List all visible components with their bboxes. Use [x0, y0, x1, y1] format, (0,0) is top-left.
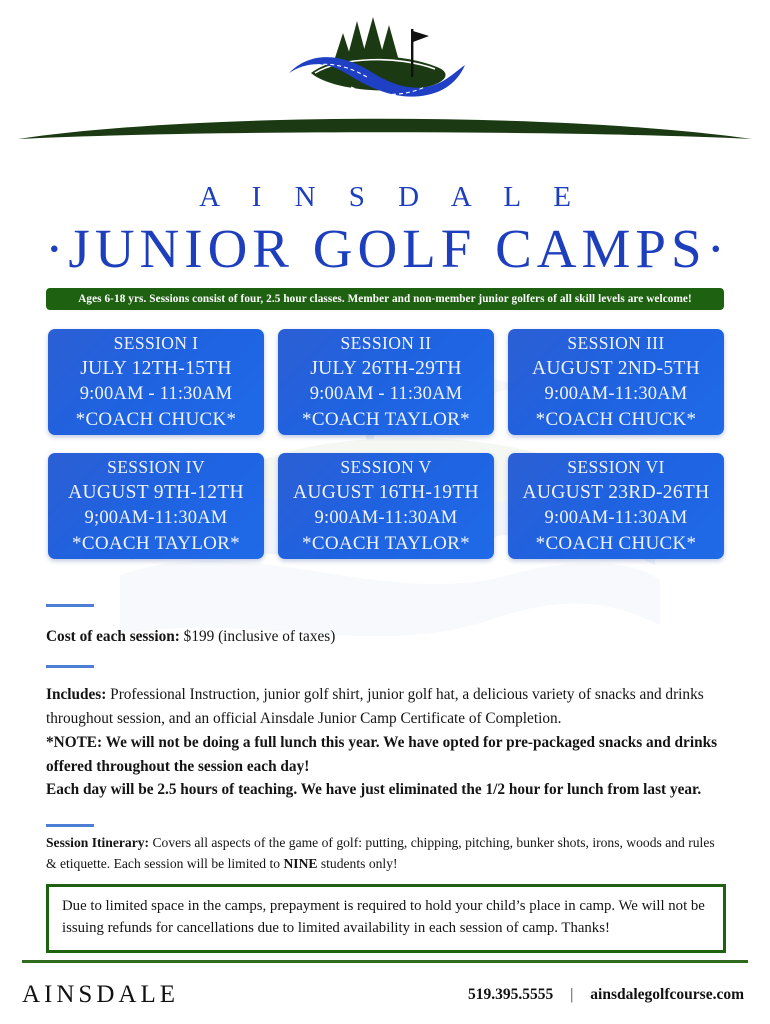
brand-title: A I N S D A L E — [0, 182, 770, 214]
session-grid: SESSION I JULY 12TH-15TH 9:00AM - 11:30A… — [48, 329, 724, 559]
session-dates: AUGUST 23RD-26TH — [523, 480, 710, 507]
session-time: 9:00AM-11:30AM — [315, 506, 458, 531]
session-time: 9;00AM-11:30AM — [85, 506, 228, 531]
logo-container — [0, 14, 770, 102]
session-card[interactable]: SESSION VI AUGUST 23RD-26TH 9:00AM-11:30… — [508, 453, 724, 559]
session-coach: *COACH TAYLOR* — [302, 531, 470, 557]
session-card[interactable]: SESSION II JULY 26TH-29TH 9:00AM - 11:30… — [278, 329, 494, 435]
footer-phone[interactable]: 519.395.5555 — [468, 986, 553, 1004]
session-coach: *COACH CHUCK* — [536, 407, 697, 433]
session-card[interactable]: SESSION V AUGUST 16TH-19TH 9:00AM-11:30A… — [278, 453, 494, 559]
session-title: SESSION III — [567, 331, 664, 356]
refund-policy-notice: Due to limited space in the camps, prepa… — [46, 884, 726, 953]
footer-contact: 519.395.5555 | ainsdalegolfcourse.com — [468, 986, 748, 1004]
includes-text: Professional Instruction, junior golf sh… — [46, 686, 704, 727]
session-dates: AUGUST 2ND-5TH — [532, 356, 700, 383]
title-block: A I N S D A L E ·JUNIOR GOLF CAMPS· — [0, 182, 770, 279]
session-time: 9:00AM-11:30AM — [545, 506, 688, 531]
session-time: 9:00AM - 11:30AM — [310, 382, 463, 407]
session-card[interactable]: SESSION III AUGUST 2ND-5TH 9:00AM-11:30A… — [508, 329, 724, 435]
footer-divider — [22, 960, 748, 963]
includes-section: Includes: Professional Instruction, juni… — [46, 683, 726, 802]
page-title: ·JUNIOR GOLF CAMPS· — [0, 218, 770, 280]
session-coach: *COACH CHUCK* — [536, 531, 697, 557]
green-arc-band-icon — [0, 106, 770, 150]
session-dates: JULY 12TH-15TH — [80, 356, 232, 383]
section-divider-itinerary — [46, 824, 94, 827]
session-coach: *COACH CHUCK* — [76, 407, 237, 433]
itinerary-text-b: students only! — [317, 856, 397, 871]
session-time: 9:00AM-11:30AM — [545, 382, 688, 407]
session-coach: *COACH TAYLOR* — [302, 407, 470, 433]
includes-note: *NOTE: We will not be doing a full lunch… — [46, 731, 726, 779]
session-title: SESSION V — [340, 455, 431, 480]
section-divider-cost — [46, 604, 94, 607]
ages-info-ribbon: Ages 6-18 yrs. Sessions consist of four,… — [46, 288, 724, 310]
session-title: SESSION II — [340, 331, 431, 356]
session-title: SESSION IV — [107, 455, 205, 480]
section-divider-includes — [46, 665, 94, 668]
refund-policy-text: Due to limited space in the camps, prepa… — [62, 896, 710, 940]
itinerary-label: Session Itinerary: — [46, 835, 149, 850]
session-dates: JULY 26TH-29TH — [310, 356, 462, 383]
includes-teaching-note: Each day will be 2.5 hours of teaching. … — [46, 778, 726, 802]
footer-brand: AINSDALE — [22, 981, 179, 1009]
session-title: SESSION VI — [567, 455, 665, 480]
footer-separator: | — [570, 986, 573, 1004]
itinerary-emphasis: NINE — [283, 856, 317, 871]
cost-value: $199 (inclusive of taxes) — [180, 628, 335, 645]
session-dates: AUGUST 16TH-19TH — [293, 480, 479, 507]
cost-section: Cost of each session: $199 (inclusive of… — [46, 625, 726, 649]
session-card[interactable]: SESSION IV AUGUST 9TH-12TH 9;00AM-11:30A… — [48, 453, 264, 559]
includes-label: Includes: — [46, 686, 106, 703]
session-time: 9:00AM - 11:30AM — [80, 382, 233, 407]
session-dates: AUGUST 9TH-12TH — [68, 480, 244, 507]
footer-website[interactable]: ainsdalegolfcourse.com — [590, 986, 744, 1004]
ainsdale-golf-logo-icon — [287, 15, 483, 101]
session-title: SESSION I — [114, 331, 199, 356]
footer: AINSDALE 519.395.5555 | ainsdalegolfcour… — [22, 975, 748, 1015]
itinerary-section: Session Itinerary: Covers all aspects of… — [46, 833, 726, 874]
session-coach: *COACH TAYLOR* — [72, 531, 240, 557]
cost-label: Cost of each session: — [46, 628, 180, 645]
session-card[interactable]: SESSION I JULY 12TH-15TH 9:00AM - 11:30A… — [48, 329, 264, 435]
